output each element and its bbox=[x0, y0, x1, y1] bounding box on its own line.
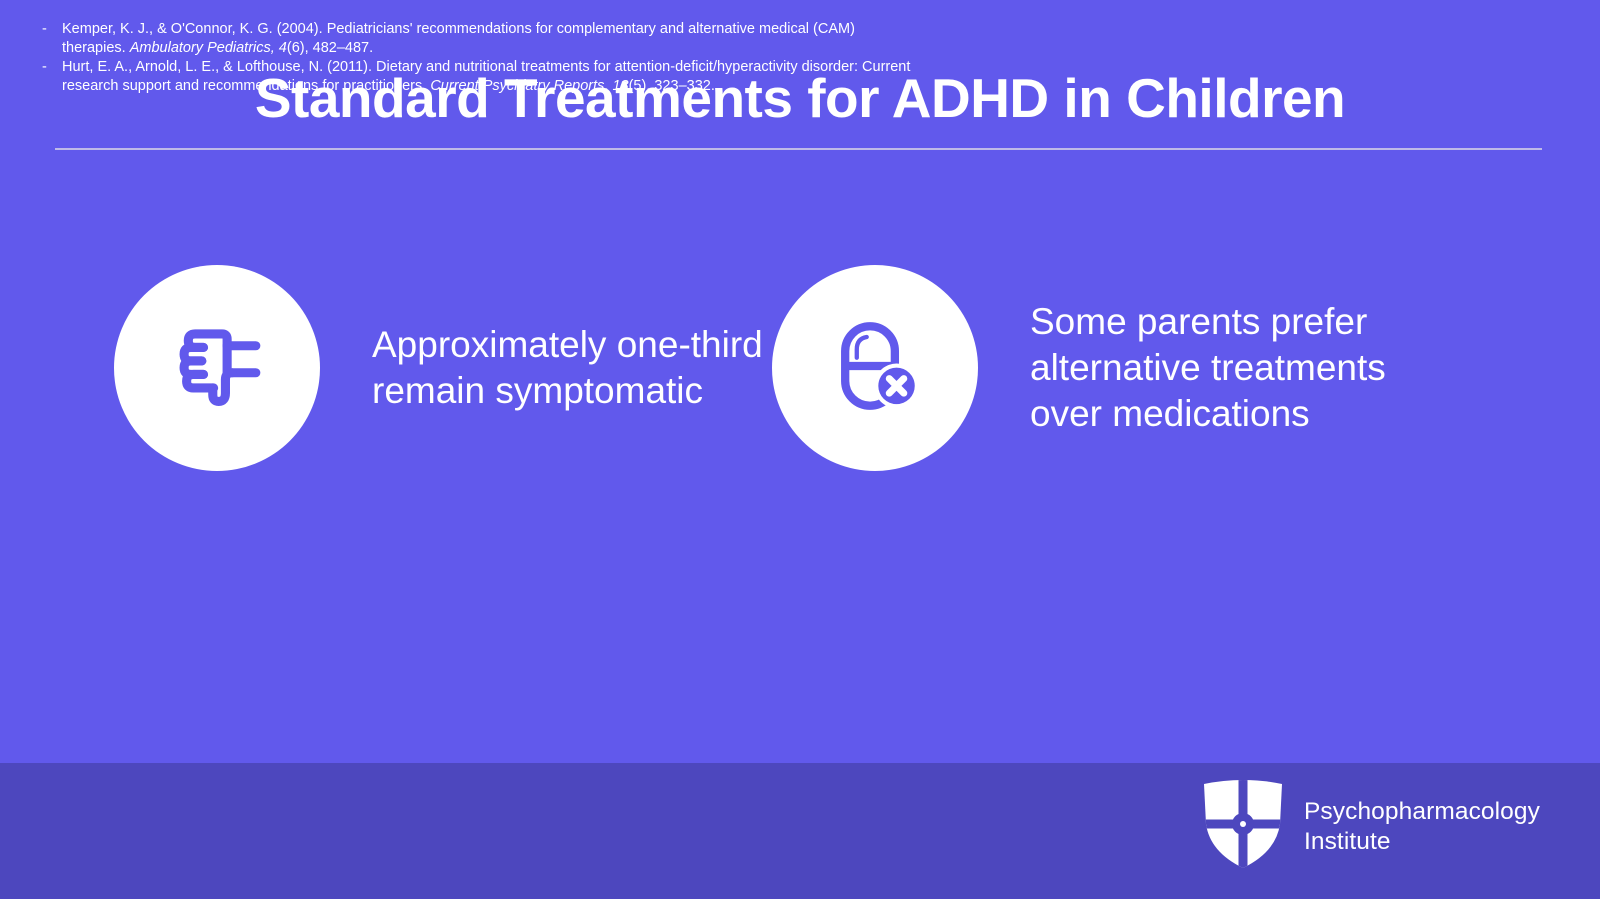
reference-text-italic: Ambulatory Pediatrics, 4 bbox=[130, 40, 287, 56]
reference-text-italic: Current Psychiatry Reports bbox=[430, 78, 604, 94]
title-divider bbox=[55, 148, 1542, 150]
reference-bullet: - bbox=[42, 20, 62, 57]
references-list: - Kemper, K. J., & O'Connor, K. G. (2004… bbox=[42, 20, 922, 96]
reference-item: - Hurt, E. A., Arnold, L. E., & Lofthous… bbox=[42, 58, 922, 95]
thumbs-down-icon bbox=[163, 312, 271, 425]
brand-name-line2: Institute bbox=[1304, 828, 1391, 855]
point-text-1: Approximately one-third remain symptomat… bbox=[372, 322, 792, 415]
reference-text-part: (5), 323–332. bbox=[629, 78, 715, 94]
point-item-2: Some parents prefer alternative treatmen… bbox=[772, 262, 1460, 474]
brand-logo-group: Psychopharmacology Institute bbox=[1200, 778, 1540, 875]
points-container: Approximately one-third remain symptomat… bbox=[0, 262, 1600, 477]
icon-badge-2 bbox=[772, 265, 978, 471]
point-item-1: Approximately one-third remain symptomat… bbox=[114, 262, 792, 474]
reference-text-italic: 13 bbox=[612, 78, 628, 94]
icon-badge-1 bbox=[114, 265, 320, 471]
brand-name-line1: Psychopharmacology bbox=[1304, 798, 1540, 825]
reference-text: Hurt, E. A., Arnold, L. E., & Lofthouse,… bbox=[62, 58, 922, 95]
reference-text: Kemper, K. J., & O'Connor, K. G. (2004).… bbox=[62, 20, 922, 57]
slide-root: Standard Treatments for ADHD in Children bbox=[0, 0, 1600, 899]
pill-blocked-icon bbox=[822, 313, 928, 424]
brand-name: Psychopharmacology Institute bbox=[1304, 797, 1540, 857]
shield-logo-icon bbox=[1200, 778, 1286, 875]
point-text-2: Some parents prefer alternative treatmen… bbox=[1030, 299, 1460, 438]
reference-bullet: - bbox=[42, 58, 62, 95]
reference-item: - Kemper, K. J., & O'Connor, K. G. (2004… bbox=[42, 20, 922, 57]
reference-text-part: (6), 482–487. bbox=[287, 40, 373, 56]
